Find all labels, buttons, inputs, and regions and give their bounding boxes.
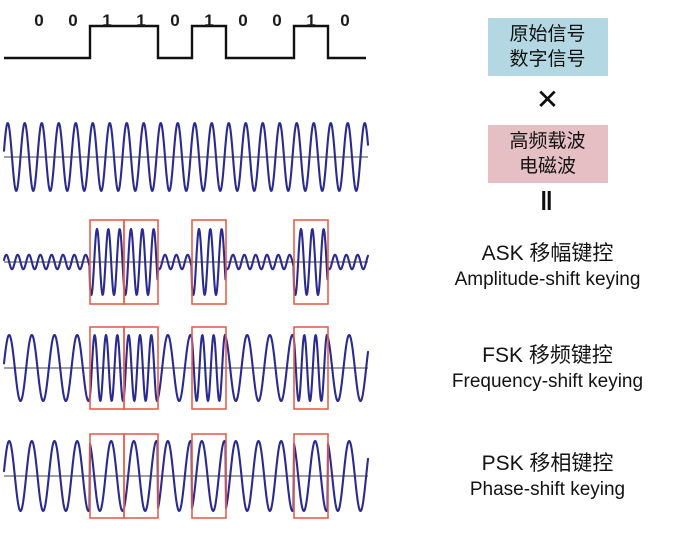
- ask-wave-plot: [0, 214, 420, 314]
- bit-label: 1: [192, 8, 226, 34]
- source-signal-box: 原始信号 数字信号: [488, 18, 608, 76]
- carrier-wave-plot: [0, 112, 420, 202]
- carrier-signal-line1: 高频载波: [509, 131, 585, 152]
- bit-label-group: 0011010010: [0, 8, 420, 42]
- bit-label: 0: [56, 8, 90, 34]
- bit-label: 1: [124, 8, 158, 34]
- psk-wave-plot: [0, 424, 420, 529]
- carrier-signal-box: 高频载波 电磁波: [488, 125, 608, 183]
- caption-fsk-en: Frequency-shift keying: [420, 369, 675, 394]
- ask-signal-row: [0, 214, 420, 314]
- bit-label: 0: [226, 8, 260, 34]
- source-signal-line1: 原始信号: [509, 24, 585, 45]
- bit-label: 0: [22, 8, 56, 34]
- caption-psk: PSK 移相键控 Phase-shift keying: [420, 450, 675, 502]
- carrier-signal-line2: 电磁波: [519, 156, 576, 177]
- caption-psk-cn: PSK 移相键控: [420, 450, 675, 477]
- fsk-wave-plot: [0, 318, 420, 418]
- modulation-diagram-page: 0011010010 原始信号 数字信号 ✕ 高频载波 电磁波: [0, 0, 675, 544]
- caption-fsk: FSK 移频键控 Frequency-shift keying: [420, 342, 675, 394]
- waveform-panel: 0011010010: [0, 0, 420, 544]
- caption-ask-en: Amplitude-shift keying: [420, 267, 675, 292]
- psk-signal-row: [0, 424, 420, 534]
- caption-fsk-cn: FSK 移频键控: [420, 342, 675, 369]
- fsk-signal-row: [0, 318, 420, 418]
- bit-label: 0: [158, 8, 192, 34]
- carrier-signal-row: [0, 112, 420, 202]
- bit-label: 1: [90, 8, 124, 34]
- caption-psk-en: Phase-shift keying: [420, 477, 675, 502]
- caption-ask: ASK 移幅键控 Amplitude-shift keying: [420, 240, 675, 292]
- legend-panel: 原始信号 数字信号 ✕ 高频载波 电磁波 ‖ ASK 移幅键控 Amplitud…: [420, 0, 675, 544]
- digital-signal-row: 0011010010: [0, 8, 420, 108]
- equals-icon: ‖: [518, 186, 578, 216]
- bit-label: 0: [328, 8, 362, 34]
- caption-ask-cn: ASK 移幅键控: [420, 240, 675, 267]
- bit-label: 1: [294, 8, 328, 34]
- bit-label: 0: [260, 8, 294, 34]
- source-signal-line2: 数字信号: [509, 49, 585, 70]
- multiply-icon: ✕: [518, 84, 578, 116]
